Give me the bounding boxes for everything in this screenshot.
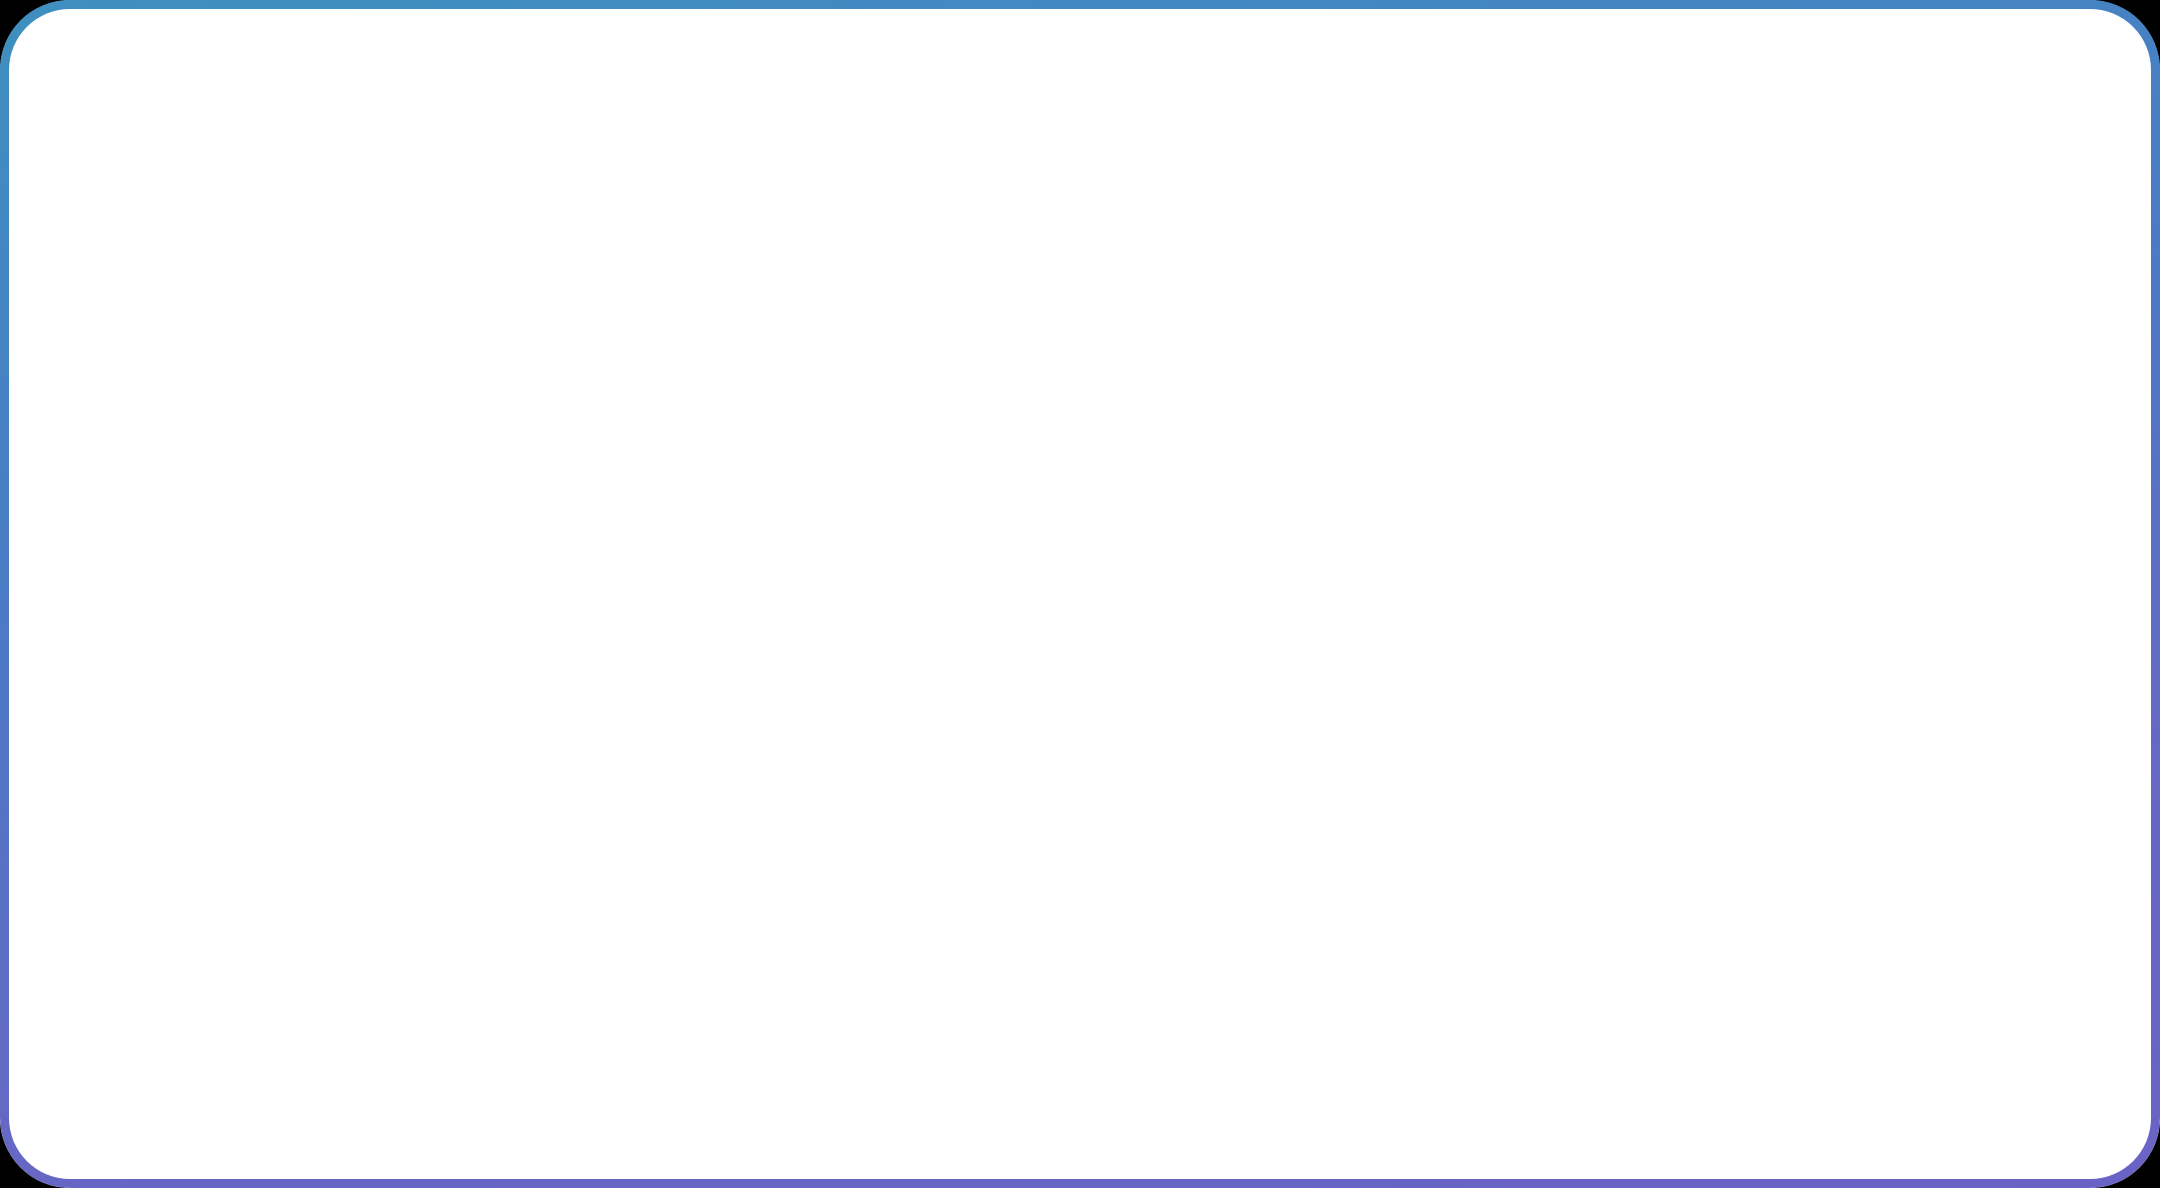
divider-stripe-bottom [22,636,2138,649]
hand-passing-document-illustration [1306,613,2146,1188]
section-title: Toelichting [245,685,1255,739]
divider-stripe-top [22,612,2138,625]
clover-icon [614,334,1066,601]
quote-text: “Laaggeletterdheid kan van generatie op … [120,52,2040,284]
quote-card: “Laaggeletterdheid kan van generatie op … [0,0,2160,1188]
explanation-text-column: Toelichting Kinderen van laaggeletterde … [245,685,1255,1000]
document-shape [1542,679,1814,1149]
emphasis-marks [1802,895,1946,957]
section-paragraph: Kinderen van laaggeletterde ouders hebbe… [245,767,1255,1000]
lower-hand-shape [1786,1007,2000,1188]
quote-header: “Laaggeletterdheid kan van generatie op … [0,0,2160,601]
divider-stripes [0,601,2160,645]
explanation-body: Toelichting Kinderen van laaggeletterde … [0,645,2160,1188]
upper-hand-stroke [1306,621,1550,919]
